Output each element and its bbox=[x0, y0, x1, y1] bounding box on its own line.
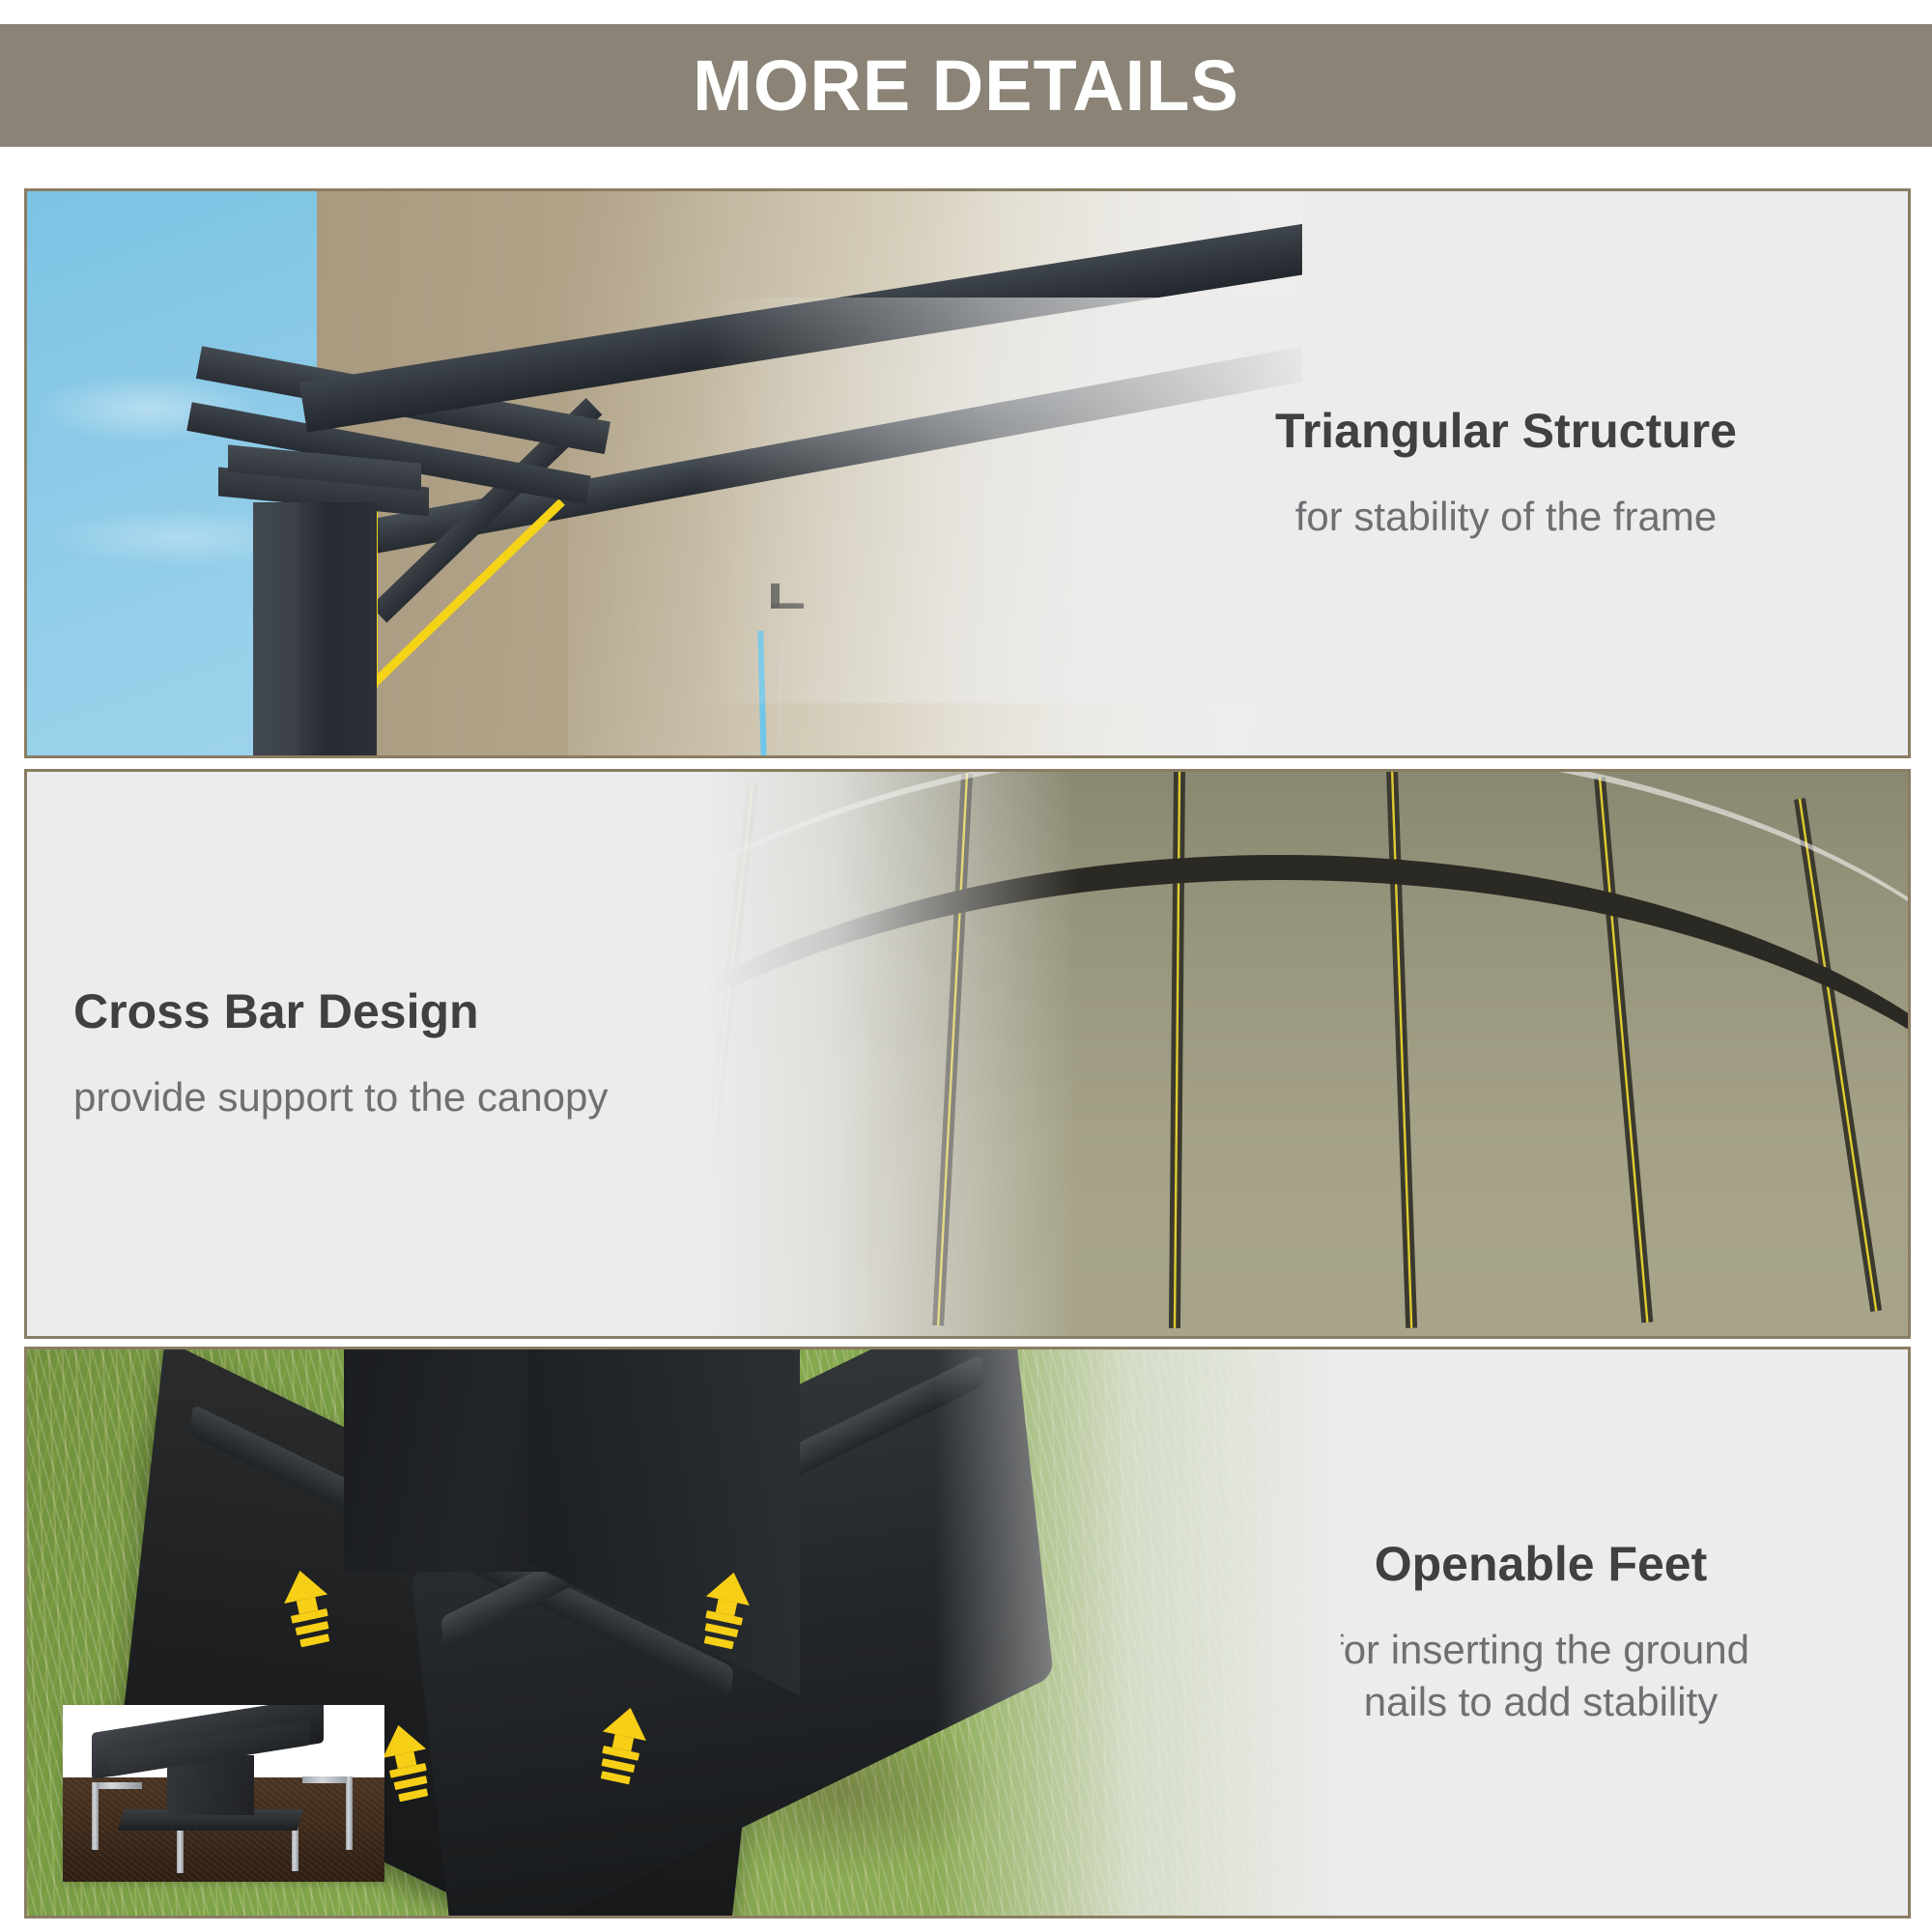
ground-nail bbox=[92, 1782, 142, 1789]
post-base-photo bbox=[27, 1350, 1341, 1916]
ground-nail bbox=[346, 1776, 353, 1850]
ground-nail-inset-photo bbox=[63, 1705, 384, 1882]
page-title: MORE DETAILS bbox=[693, 50, 1239, 122]
pergola-corner-photo bbox=[27, 191, 1302, 755]
panel-2-text-block: Cross Bar Design provide support to the … bbox=[73, 772, 808, 1336]
photo-fade-overlay bbox=[935, 1350, 1341, 1916]
feature-panel-cross-bar-design: Cross Bar Design provide support to the … bbox=[24, 769, 1911, 1339]
feature-panel-triangular-structure: Triangular Structure for stability of th… bbox=[24, 188, 1911, 758]
feature-subtitle: provide support to the canopy bbox=[73, 1071, 808, 1123]
feature-panel-openable-feet: Openable Feet for inserting the ground n… bbox=[24, 1347, 1911, 1918]
feature-title: Triangular Structure bbox=[1139, 404, 1873, 458]
feature-title: Cross Bar Design bbox=[73, 984, 808, 1038]
pergola-post-highlight-face bbox=[253, 502, 299, 755]
panel-1-text-block: Triangular Structure for stability of th… bbox=[1139, 191, 1873, 755]
feature-subtitle: for stability of the frame bbox=[1139, 491, 1873, 543]
header-banner: MORE DETAILS bbox=[0, 24, 1932, 147]
ground-nail bbox=[92, 1782, 99, 1850]
